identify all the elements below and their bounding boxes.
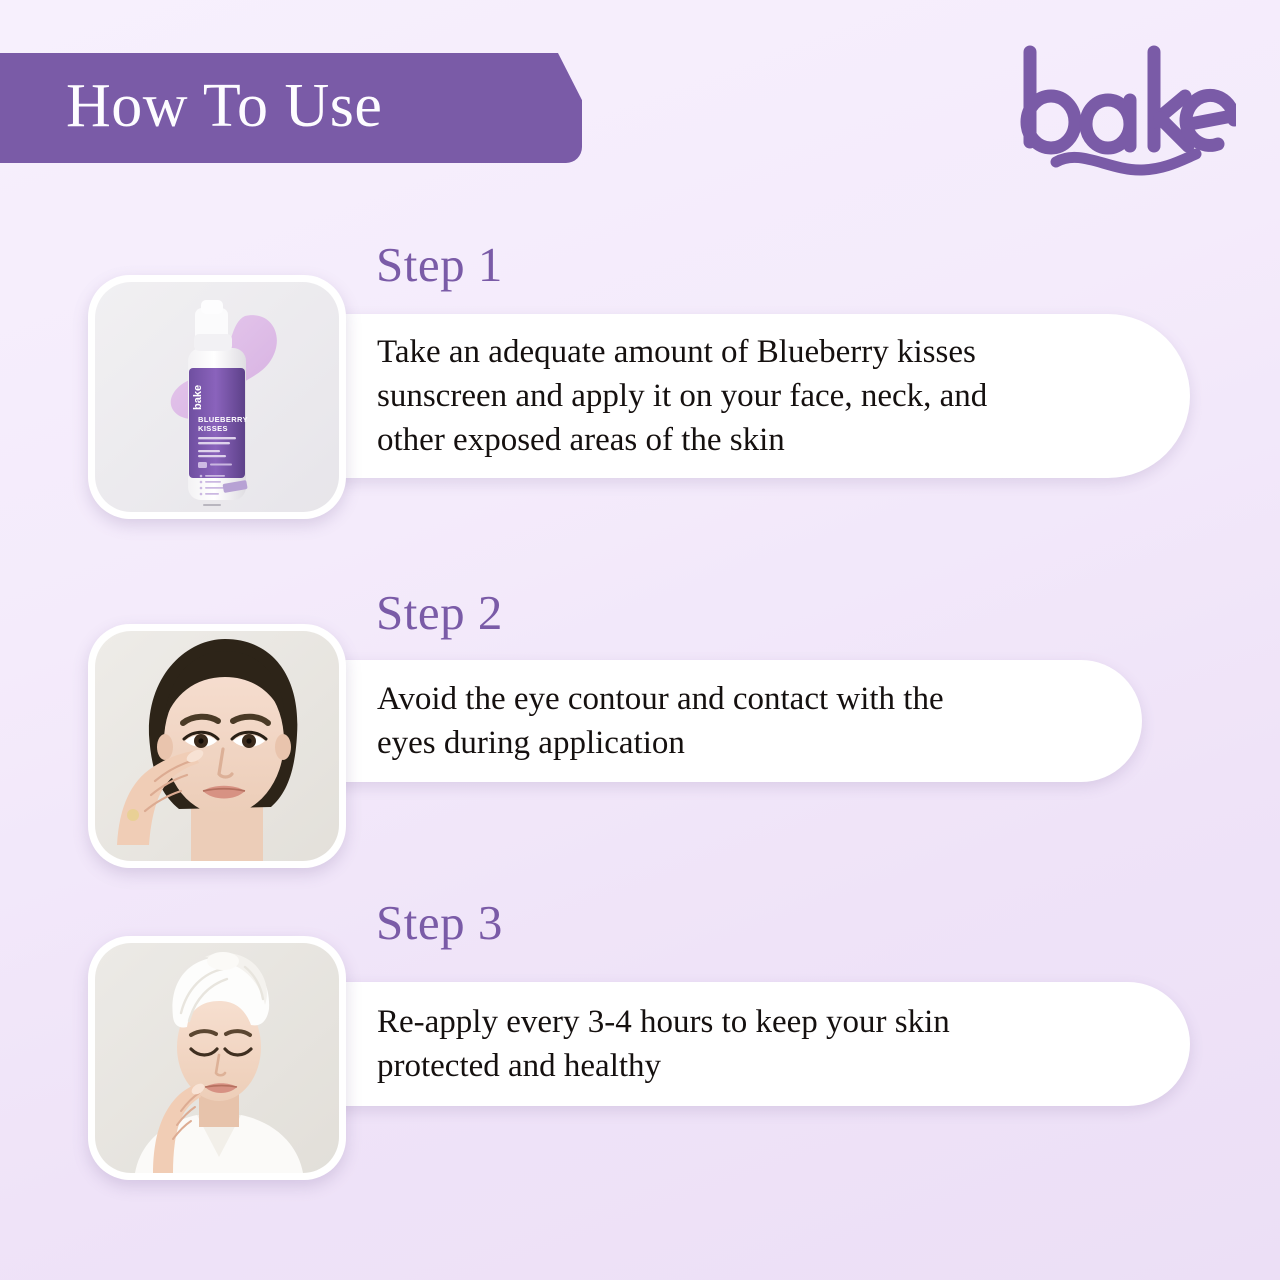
svg-text:BLUEBERRY: BLUEBERRY [198, 415, 248, 424]
step-2-body-text: Avoid the eye contour and contact with t… [262, 677, 1004, 765]
step-2-heading: Step 2 [376, 588, 503, 637]
step-3-image-tile [88, 936, 346, 1180]
svg-text:bake: bake [192, 385, 204, 410]
page-title: How To Use [66, 71, 382, 142]
step-3-card: Re-apply every 3-4 hours to keep your sk… [262, 982, 1190, 1106]
step-2-card: Avoid the eye contour and contact with t… [262, 660, 1142, 782]
product-bottle-blueberry-kisses: bake BLUEBERRY KISSES [95, 282, 339, 512]
step-1-card: Take an adequate amount of Blueberry kis… [262, 314, 1190, 478]
header-banner: How To Use [0, 53, 620, 163]
infographic-canvas: How To Use Step 1 [0, 0, 1280, 1280]
woman-touching-under-eye [95, 631, 339, 861]
woman-hair-towel-touching-cheek [95, 943, 339, 1173]
step-1-image-tile: bake BLUEBERRY KISSES [88, 275, 346, 519]
step-3-body-text: Re-apply every 3-4 hours to keep your sk… [262, 1000, 1010, 1088]
brand-logo [1004, 38, 1236, 188]
step-1-heading: Step 1 [376, 240, 503, 289]
svg-text:KISSES: KISSES [198, 424, 228, 433]
step-3-heading: Step 3 [376, 898, 503, 947]
step-2-image-tile [88, 624, 346, 868]
step-1-body-text: Take an adequate amount of Blueberry kis… [262, 330, 1057, 463]
